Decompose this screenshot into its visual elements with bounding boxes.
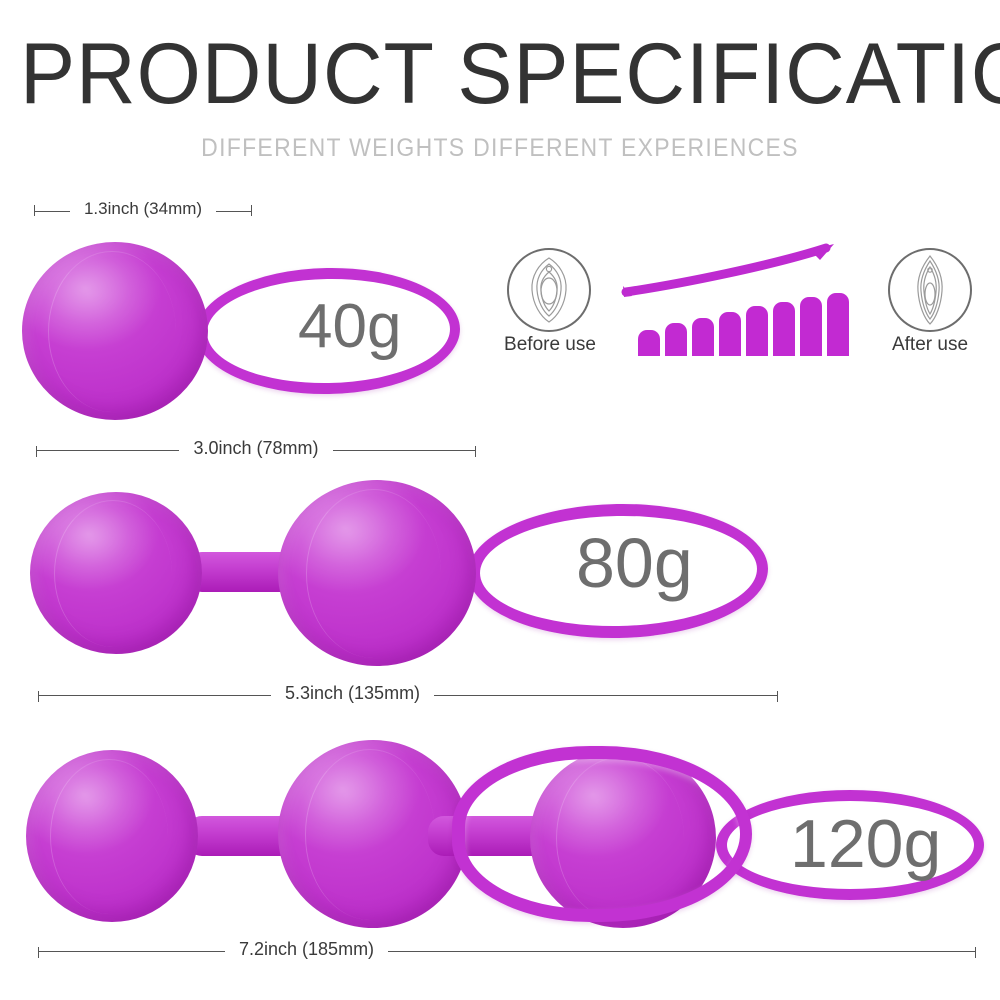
page-subtitle: DIFFERENT WEIGHTS DIFFERENT EXPERIENCES — [40, 133, 960, 163]
product-80g-ball-1 — [30, 492, 202, 654]
product-40g: 40g — [0, 230, 500, 430]
dimension-product-80g-length: 5.3inch (135mm) — [38, 682, 778, 708]
product-120g-weight-label: 120g — [790, 810, 941, 878]
dimension-tick-right — [475, 446, 476, 457]
chart-bar-6 — [773, 302, 795, 356]
dimension-product-120g-length: 7.2inch (185mm) — [38, 938, 976, 964]
dimension-label: 7.2inch (185mm) — [225, 939, 388, 960]
page-title: PRODUCT SPECIFICATION — [20, 28, 980, 120]
infographic-page: PRODUCT SPECIFICATION DIFFERENT WEIGHTS … — [0, 0, 1000, 1000]
dimension-line-right — [333, 450, 475, 451]
chart-bar-1 — [638, 330, 660, 356]
dimension-ball-diameter: 1.3inch (34mm) — [34, 198, 252, 224]
product-80g: 80g — [0, 472, 790, 672]
anatomy-outline-icon — [509, 250, 589, 330]
before-use-circle — [507, 248, 591, 332]
dimension-line-right — [216, 211, 251, 212]
dimension-line-left — [37, 450, 179, 451]
product-120g-cord-loop-large — [452, 746, 752, 922]
chart-bar-4 — [719, 312, 741, 356]
anatomy-outline-icon — [890, 250, 970, 330]
dimension-tick-right — [251, 205, 252, 216]
product-40g-weight-label: 40g — [298, 296, 401, 358]
product-80g-weight-label: 80g — [576, 528, 693, 598]
dimension-line-left — [39, 695, 271, 696]
dimension-line-right — [434, 695, 777, 696]
dimension-label: 5.3inch (135mm) — [271, 683, 434, 704]
dimension-product-40g-length: 3.0inch (78mm) — [36, 437, 476, 463]
dimension-line-left — [39, 951, 225, 952]
after-use-caption: After use — [870, 334, 990, 356]
dimension-tick-left — [38, 947, 39, 958]
chart-bar-5 — [746, 306, 768, 356]
dimension-tick-left — [38, 691, 39, 702]
dimension-tick-left — [36, 446, 37, 457]
product-40g-ball-1 — [22, 242, 208, 420]
product-120g-ball-1 — [26, 750, 198, 922]
dimension-label: 3.0inch (78mm) — [179, 438, 332, 459]
growth-bar-chart — [636, 258, 852, 356]
chart-bar-2 — [665, 323, 687, 356]
product-120g: 120g — [0, 728, 1000, 933]
dimension-line-right — [388, 951, 975, 952]
dimension-line-left — [35, 211, 70, 212]
dimension-tick-right — [975, 947, 976, 958]
chart-bar-8 — [827, 293, 849, 356]
dimension-tick-right — [777, 691, 778, 702]
dimension-label: 1.3inch (34mm) — [70, 199, 216, 219]
chart-bar-7 — [800, 297, 822, 356]
product-80g-ball-2 — [278, 480, 476, 666]
chart-bar-3 — [692, 318, 714, 356]
usage-comparison-diagram: Before use — [490, 238, 1000, 356]
after-use-circle — [888, 248, 972, 332]
before-use-caption: Before use — [490, 334, 610, 356]
